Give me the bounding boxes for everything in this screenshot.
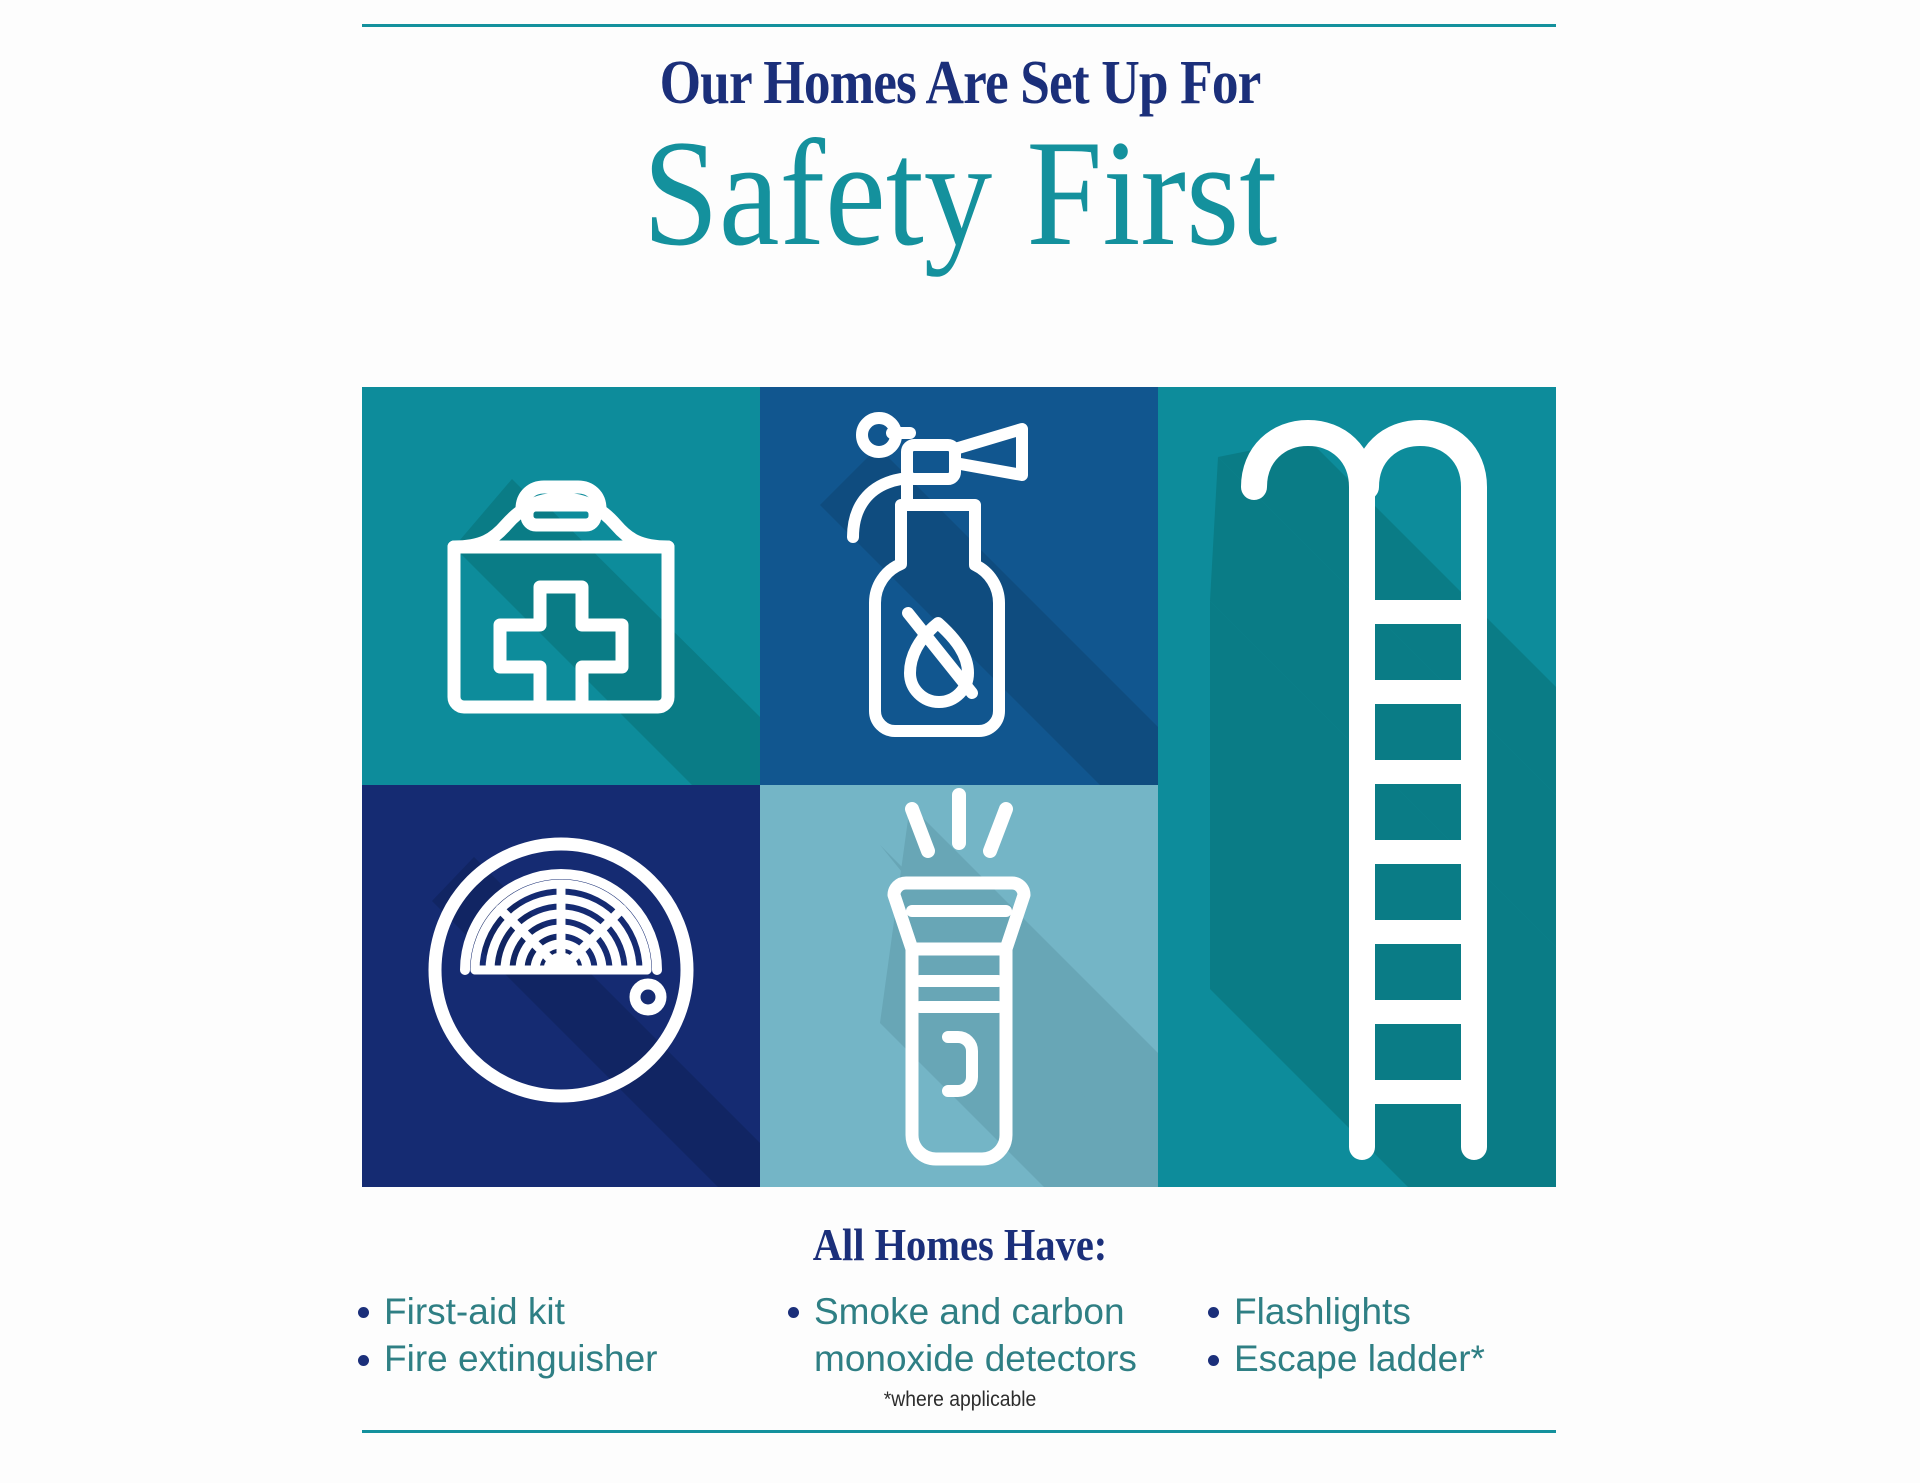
icon-tile-grid [362, 387, 1556, 1187]
tile-escape-ladder [1158, 387, 1556, 1187]
list-item: Flashlights [1208, 1288, 1558, 1335]
list-item-label: monoxide detectors [814, 1338, 1137, 1379]
list-item-label: Flashlights [1234, 1291, 1411, 1332]
bullet-icon [788, 1307, 799, 1318]
top-divider-rule [362, 24, 1556, 27]
list-item-label: Escape ladder* [1234, 1338, 1485, 1379]
bullet-icon [358, 1355, 369, 1366]
tile-fire-extinguisher [760, 387, 1158, 785]
ladder-rungs [1362, 612, 1474, 1092]
tile-first-aid-kit [362, 387, 760, 785]
tile-smoke-detector [362, 785, 760, 1187]
list-item: Smoke and carbon [788, 1288, 1208, 1335]
list-item: monoxide detectors [788, 1335, 1208, 1382]
list-item: First-aid kit [358, 1288, 788, 1335]
bullet-icon [1208, 1355, 1219, 1366]
title-block: Our Homes Are Set Up For Safety First [0, 52, 1920, 269]
safety-first-poster: Our Homes Are Set Up For Safety First [0, 0, 1920, 1483]
list-item: Escape ladder* [1208, 1335, 1558, 1382]
checklist-column-1: First-aid kit Fire extinguisher [330, 1288, 788, 1383]
checklist-columns: First-aid kit Fire extinguisher Smoke an… [330, 1288, 1610, 1383]
list-item-label: Smoke and carbon [814, 1291, 1125, 1332]
poster-kicker: Our Homes Are Set Up For [134, 52, 1785, 115]
list-item-label: First-aid kit [384, 1291, 565, 1332]
checklist-heading: All Homes Have: [115, 1218, 1805, 1271]
bottom-divider-rule [362, 1430, 1556, 1433]
bullet-icon [1208, 1307, 1219, 1318]
checklist-column-2: Smoke and carbon monoxide detectors [788, 1288, 1208, 1383]
list-item-label: Fire extinguisher [384, 1338, 658, 1379]
checklist-column-3: Flashlights Escape ladder* [1208, 1288, 1558, 1383]
bullet-icon [358, 1307, 369, 1318]
tile-flashlight [760, 785, 1158, 1187]
checklist-footnote: *where applicable [77, 1388, 1843, 1412]
poster-title: Safety First [96, 117, 1824, 269]
list-item: Fire extinguisher [358, 1335, 788, 1382]
